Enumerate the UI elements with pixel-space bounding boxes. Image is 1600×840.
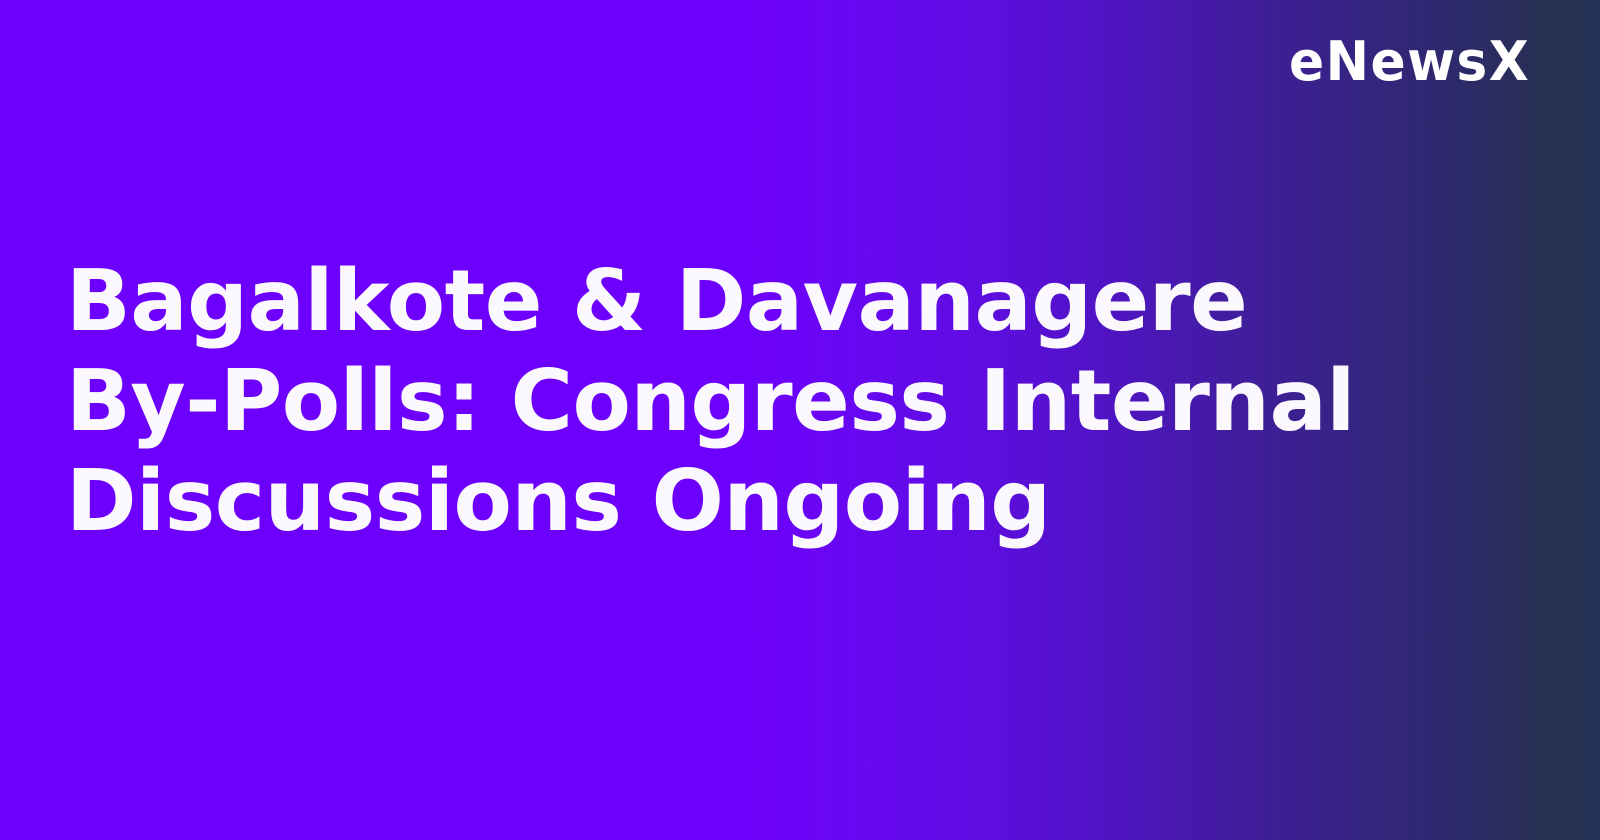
news-social-card: eNewsX Bagalkote & Davanagere By-Polls: … [0, 0, 1600, 840]
brand-wordmark: eNewsX [1289, 35, 1530, 89]
brand-logo[interactable]: eNewsX [1279, 34, 1530, 90]
page-title: Bagalkote & Davanagere By-Polls: Congres… [66, 252, 1366, 552]
headline-block: Bagalkote & Davanagere By-Polls: Congres… [66, 252, 1366, 552]
